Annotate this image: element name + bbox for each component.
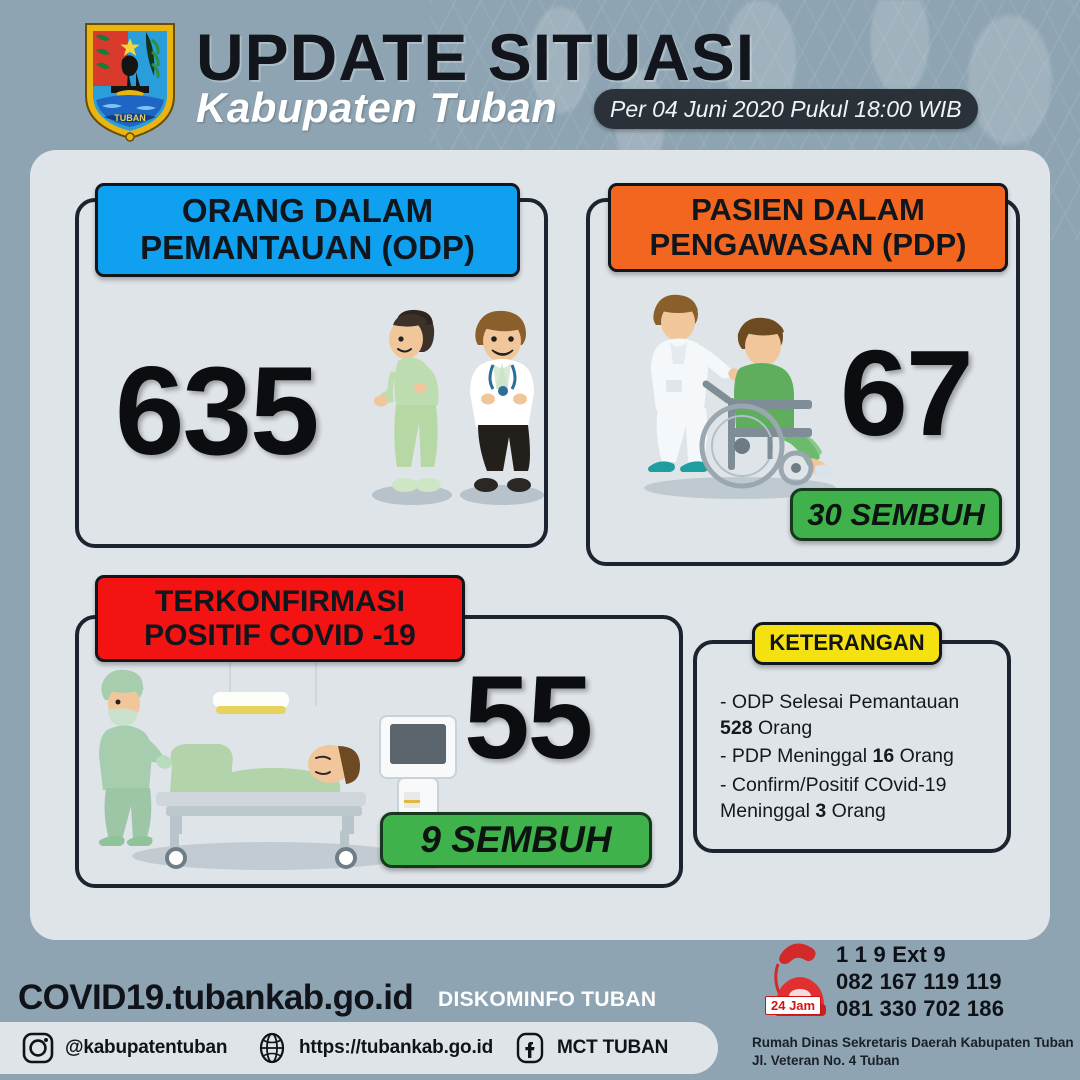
card-pdp-recovered-badge: 30 SEMBUH — [790, 488, 1002, 541]
footer-site-url[interactable]: COVID19.tubankab.go.id — [18, 978, 413, 1018]
keterangan-item-3-text2: Meninggal — [720, 800, 815, 822]
illustration-pdp-wheelchair — [620, 280, 870, 505]
keterangan-title: KETERANGAN — [752, 622, 942, 665]
card-pdp-value: 67 — [840, 323, 972, 463]
card-positive-label: TERKONFIRMASI POSITIF COVID -19 — [95, 575, 465, 662]
card-positive-value: 55 — [464, 650, 591, 786]
card-odp-label-line1: ORANG DALAM — [110, 193, 505, 230]
footer-address: Rumah Dinas Sekretaris Daerah Kabupaten … — [752, 1034, 1074, 1070]
facebook-icon — [514, 1032, 546, 1064]
keterangan-item-2: - PDP Meninggal 16 Orang — [720, 744, 1010, 770]
social-bar: @kabupatentuban https://tubankab.go.id M… — [0, 1022, 718, 1074]
globe-icon — [256, 1032, 288, 1064]
keterangan-item-1: - ODP Selesai Pemantauan 528 Orang — [720, 690, 1010, 741]
social-website-label: https://tubankab.go.id — [299, 1037, 493, 1059]
instagram-icon — [22, 1032, 54, 1064]
keterangan-item-1-unit: Orang — [753, 717, 813, 739]
page-footer: COVID19.tubankab.go.id DISKOMINFO TUBAN … — [0, 940, 1080, 1080]
illustration-odp-patient-and-doctor — [360, 295, 560, 510]
svg-text:TUBAN: TUBAN — [114, 113, 146, 123]
phone-24jam-badge: 24 Jam — [765, 996, 821, 1015]
keterangan-item-3-value: 3 — [815, 800, 826, 822]
card-positive-label-line2: POSITIF COVID -19 — [110, 619, 450, 653]
social-facebook[interactable]: MCT TUBAN — [514, 1032, 668, 1064]
card-odp-value: 635 — [115, 340, 318, 483]
footer-address-line1: Rumah Dinas Sekretaris Daerah Kabupaten … — [752, 1034, 1074, 1052]
card-odp-label-line2: PEMANTAUAN (ODP) — [110, 230, 505, 267]
keterangan-item-3-text: - Confirm/Positif COvid-19 — [720, 774, 946, 796]
main-panel: ORANG DALAM PEMANTAUAN (ODP) 635 — [30, 150, 1050, 940]
card-positive-recovered-badge: 9 SEMBUH — [380, 812, 652, 868]
lambang-kabupaten-tuban-icon: TUBAN — [78, 18, 182, 142]
keterangan-item-3-unit: Orang — [826, 800, 886, 822]
keterangan-item-2-unit: Orang — [894, 745, 954, 767]
card-pdp-label-line1: PASIEN DALAM — [623, 193, 993, 228]
keterangan-list: - ODP Selesai Pemantauan 528 Orang - PDP… — [720, 690, 1010, 828]
social-instagram[interactable]: @kabupatentuban — [22, 1032, 227, 1064]
social-website[interactable]: https://tubankab.go.id — [256, 1032, 493, 1064]
phone-line-1: 1 1 9 Ext 9 — [836, 942, 1004, 969]
card-odp-label: ORANG DALAM PEMANTAUAN (ODP) — [95, 183, 520, 277]
telephone-icon — [762, 940, 840, 1032]
card-pdp-label-line2: PENGAWASAN (PDP) — [623, 228, 993, 263]
keterangan-item-1-value: 528 — [720, 717, 753, 739]
card-positive-label-line1: TERKONFIRMASI — [110, 585, 450, 619]
card-pdp-label: PASIEN DALAM PENGAWASAN (PDP) — [608, 183, 1008, 272]
date-badge: Per 04 Juni 2020 Pukul 18:00 WIB — [594, 89, 978, 129]
keterangan-item-2-text: - PDP Meninggal — [720, 745, 872, 767]
page-header: TUBAN UPDATE SITUASI Kabupaten Tuban Per… — [0, 0, 1080, 150]
footer-agency: DISKOMINFO TUBAN — [438, 988, 656, 1012]
social-facebook-label: MCT TUBAN — [557, 1037, 668, 1059]
phone-line-2: 082 167 119 119 — [836, 969, 1004, 996]
phone-line-3: 081 330 702 186 — [836, 996, 1004, 1023]
footer-address-line2: Jl. Veteran No. 4 Tuban — [752, 1052, 1074, 1070]
keterangan-item-2-value: 16 — [872, 745, 894, 767]
social-instagram-label: @kabupatentuban — [65, 1037, 227, 1059]
keterangan-item-3: - Confirm/Positif COvid-19 Meninggal 3 O… — [720, 773, 1010, 824]
page-subtitle: Kabupaten Tuban — [196, 84, 557, 132]
footer-phone-numbers: 1 1 9 Ext 9 082 167 119 119 081 330 702 … — [836, 942, 1004, 1022]
keterangan-item-1-text: - ODP Selesai Pemantauan — [720, 691, 959, 713]
